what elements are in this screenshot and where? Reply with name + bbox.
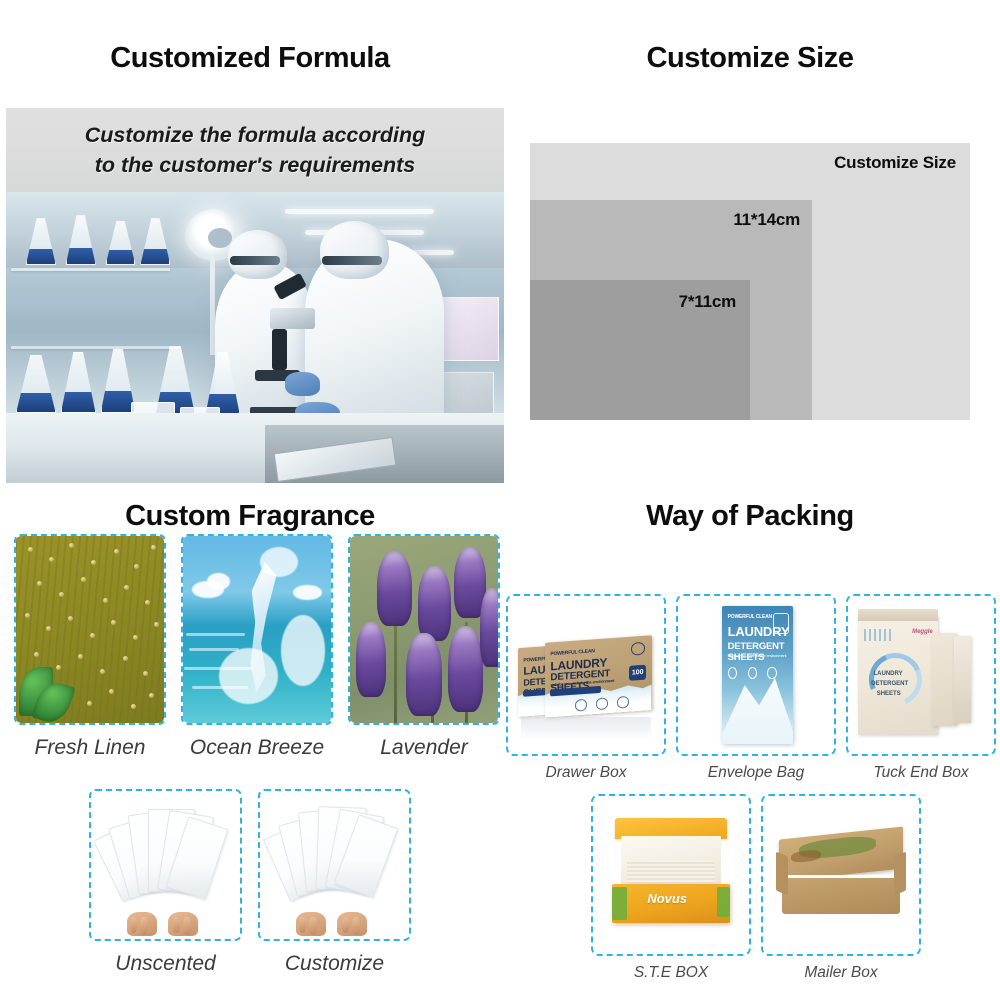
packing-caption-mailer-box: Mailer Box [761,964,921,982]
tuck-end-box-art: LAUNDRY DETERGENT SHEETS Meggle [852,600,990,750]
mailer-side-flap [894,852,906,896]
lavender-spike [406,633,442,715]
tuck-text-sheets: SHEETS [877,691,901,697]
section-title-customize-size: Customize Size [500,40,1000,76]
formula-banner-line-2: to the customer's requirements [85,150,425,180]
ocean-breeze-art [183,536,331,723]
size-diagram: Customize Size 11*14cm 7*11cm [530,143,970,420]
packing-tile-tuck-end-box[interactable]: LAUNDRY DETERGENT SHEETS Meggle [846,594,996,756]
glass-shelf [11,346,180,349]
ste-side-sticker [717,887,730,917]
packing-caption-tuck-end-box: Tuck End Box [846,764,996,782]
bag-text-powerful-clean: POWERFUL CLEAN [728,614,772,620]
mailer-side-flap [776,852,788,896]
fragrance-tile-ocean-breeze[interactable] [181,534,333,725]
drawer-box-art: POWERFUL CLEAN LAUNDRY DETERGENT SHEETS … [512,600,660,750]
microscope-arm [272,329,287,370]
tuck-brand-mark: Meggle [912,629,933,635]
lavender-art [350,536,498,723]
formula-banner-text: Customize the formula according to the c… [85,120,425,180]
fragrance-caption-unscented: Unscented [89,952,242,976]
bag-text-detergent: DETERGENT SHEETS [728,641,793,663]
lab-goggles-icon [322,256,382,265]
packing-tile-envelope-bag[interactable]: POWERFUL CLEAN LAUNDRY DETERGENT SHEETS … [676,594,836,756]
section-title-customized-formula: Customized Formula [0,40,500,76]
packing-tile-ste-box[interactable]: Novus [591,794,751,956]
bag-eco-badge-icon [773,613,789,634]
lavender-spike [356,622,386,697]
tuck-text-laundry: LAUNDRY [874,671,903,677]
lab-monitor [439,297,499,361]
ste-brand-novus: Novus [647,891,687,906]
water-swirl-icon [861,645,930,714]
packing-caption-ste-box: S.T.E BOX [591,964,751,982]
lab-goggles-icon [230,256,280,265]
lavender-spike [377,551,413,626]
box-count-badge: 100 [629,664,646,680]
fragrance-caption-fresh-linen: Fresh Linen [14,736,166,760]
envelope-bag-art: POWERFUL CLEAN LAUNDRY DETERGENT SHEETS … [682,600,830,750]
lavender-spike [418,566,451,641]
fragrance-caption-customize: Customize [258,952,411,976]
fragrance-tile-customize[interactable] [258,789,411,941]
fragrance-tile-unscented[interactable] [89,789,242,941]
unscented-art [91,791,240,939]
fragrance-caption-ocean-breeze: Ocean Breeze [181,736,333,760]
tuck-text-detergent: DETERGENT [871,681,908,687]
size-label-customize: Customize Size [834,153,956,173]
lab-worker-hood [228,230,288,279]
lab-worker-hood [320,221,390,279]
lavender-spike [448,626,484,712]
tuck-top-flap [858,609,938,621]
box-reflection [521,717,651,741]
formula-banner: Customize the formula according to the c… [6,108,504,192]
mailer-box-art [767,800,915,950]
fragrance-caption-lavender: Lavender [348,736,500,760]
laboratory-photo [6,192,504,483]
packing-tile-drawer-box[interactable]: POWERFUL CLEAN LAUNDRY DETERGENT SHEETS … [506,594,666,756]
packing-tile-mailer-box[interactable] [761,794,921,956]
packing-caption-envelope-bag: Envelope Bag [676,764,836,782]
microscope-head [270,308,315,328]
lavender-spike [480,588,498,667]
size-label-11x14: 11*14cm [733,210,800,230]
packing-caption-drawer-box: Drawer Box [506,764,666,782]
flask-icon [16,355,56,413]
infographic-page: Customized Formula Customize the formula… [0,0,1000,1000]
glass-shelf [11,268,170,271]
flask-icon [61,352,96,413]
ste-box-art: Novus [597,800,745,950]
size-rect-7x11: 7*11cm [530,280,750,420]
ste-side-sticker [612,887,627,920]
fragrance-tile-lavender[interactable] [348,534,500,725]
customize-art [260,791,409,939]
fragrance-tile-fresh-linen[interactable] [14,534,166,725]
fresh-linen-art [16,536,164,723]
section-title-way-of-packing: Way of Packing [500,498,1000,534]
tuck-icon-row [864,629,891,641]
formula-banner-line-1: Customize the formula according [85,120,425,150]
blue-glove-icon [285,372,320,395]
ceiling-light-icon [285,209,434,214]
section-title-custom-fragrance: Custom Fragrance [0,498,500,534]
size-label-7x11: 7*11cm [679,292,736,312]
bag-text-tagline: safe for you, safe for the environment [728,653,787,658]
